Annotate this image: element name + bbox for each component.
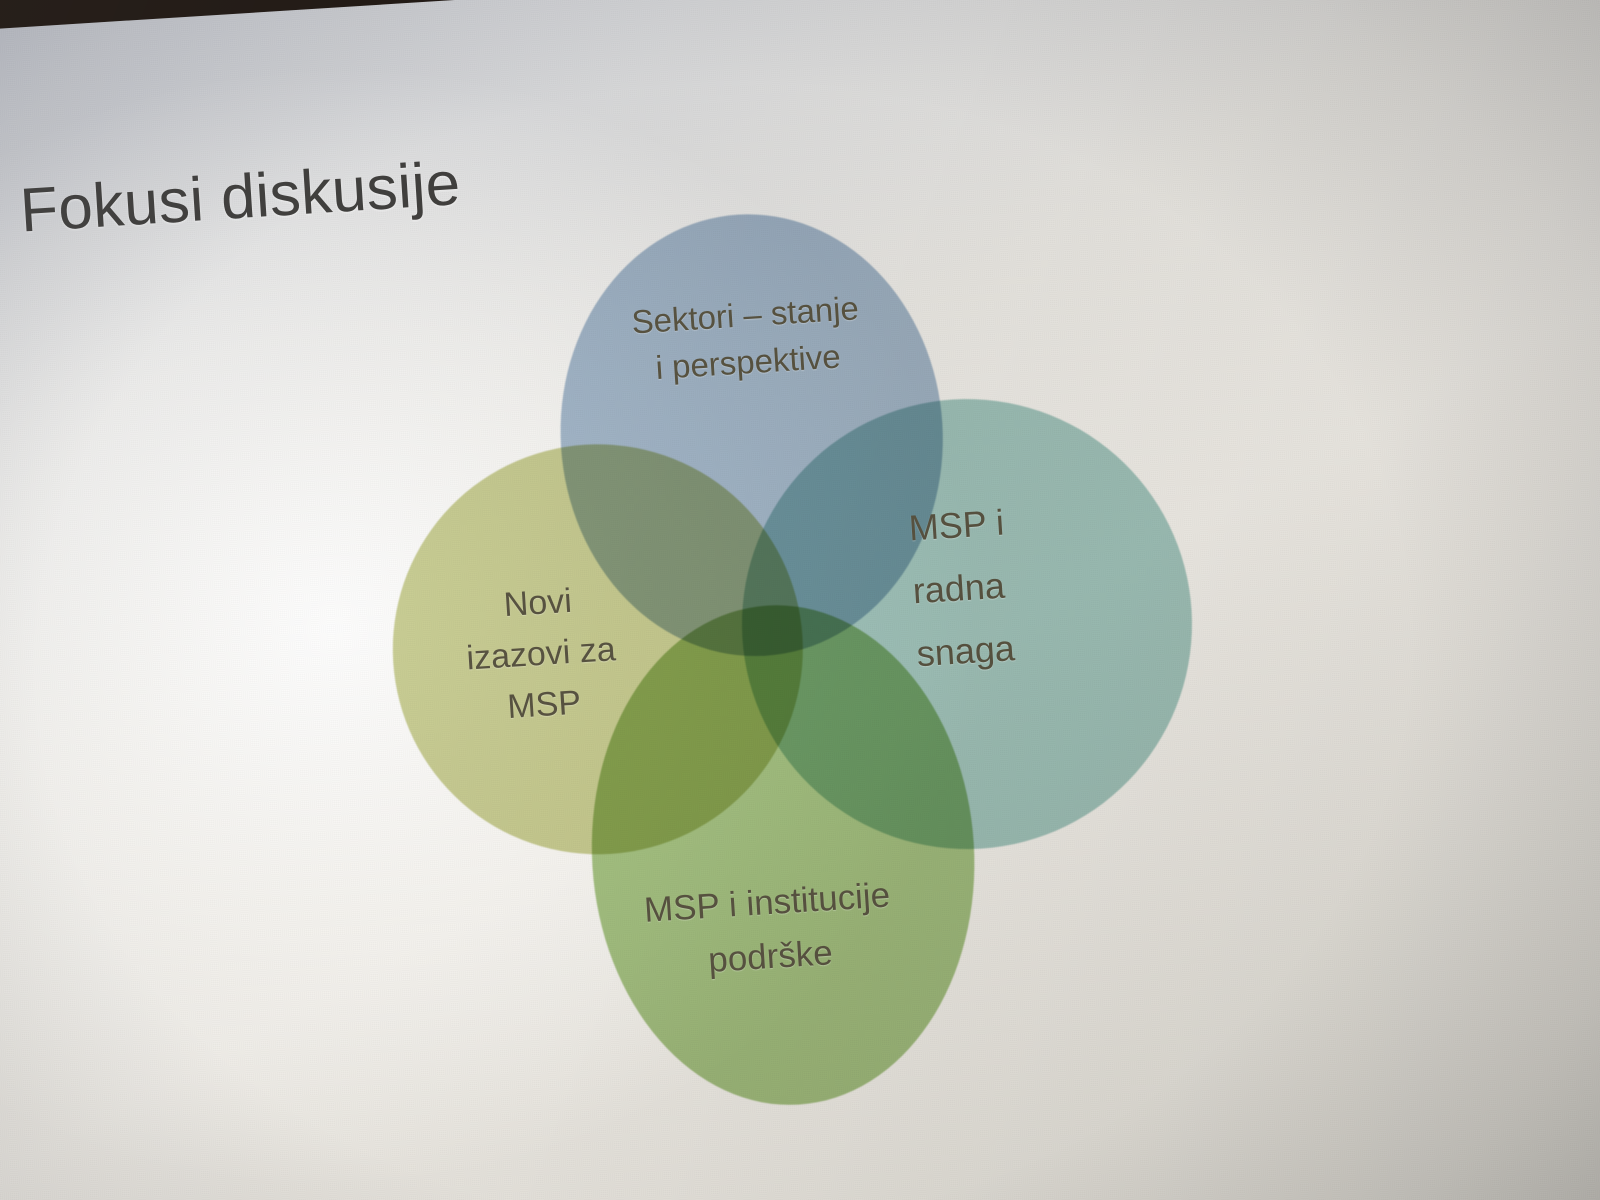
photo-of-projected-slide: Fokusi diskusije Sektori – stanje i pers… [0, 0, 1600, 1200]
projection-screen: Fokusi diskusije Sektori – stanje i pers… [0, 0, 1600, 1200]
venn-diagram: Sektori – stanje i perspektive MSP i rad… [335, 184, 1293, 1189]
